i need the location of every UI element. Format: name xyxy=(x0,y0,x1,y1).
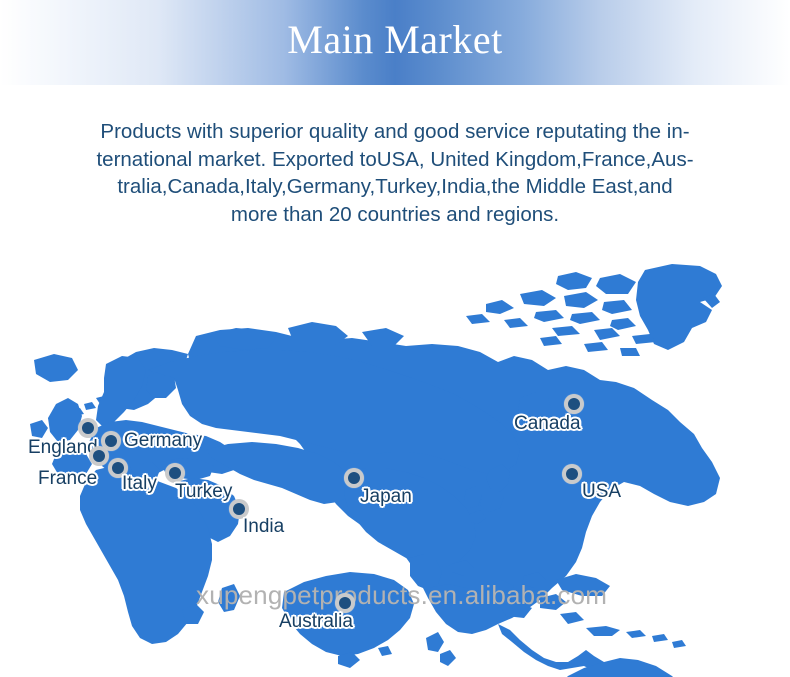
map-label-england: England xyxy=(28,437,98,458)
intro-line-4: more than 20 countries and regions. xyxy=(45,201,745,229)
map-label-india: India xyxy=(243,516,284,537)
page-title: Main Market xyxy=(0,12,790,68)
intro-line-3: tralia,Canada,Italy,Germany,Turkey,India… xyxy=(45,173,745,201)
map-label-turkey: Turkey xyxy=(175,481,232,502)
map-marker-france[interactable] xyxy=(89,446,109,466)
map-marker-australia[interactable] xyxy=(335,593,355,613)
map-label-canada: Canada xyxy=(514,413,581,434)
map-marker-england[interactable] xyxy=(78,418,98,438)
intro-paragraph: Products with superior quality and good … xyxy=(45,118,745,228)
map-label-germany: Germany xyxy=(124,430,202,451)
intro-line-2: ternational market. Exported toUSA, Unit… xyxy=(45,146,745,174)
map-label-italy: Italy xyxy=(122,473,157,494)
map-label-france: France xyxy=(38,468,97,489)
map-label-japan: Japan xyxy=(360,486,412,507)
world-map: xupengpetproducts.en.alibaba.com England… xyxy=(0,258,790,677)
map-marker-turkey[interactable] xyxy=(165,463,185,483)
map-label-usa: USA xyxy=(582,481,621,502)
map-marker-japan[interactable] xyxy=(344,468,364,488)
header-banner: Main Market xyxy=(0,0,790,85)
intro-line-1: Products with superior quality and good … xyxy=(45,118,745,146)
map-marker-usa[interactable] xyxy=(562,464,582,484)
map-marker-canada[interactable] xyxy=(564,394,584,414)
map-label-australia: Australia xyxy=(279,611,353,632)
